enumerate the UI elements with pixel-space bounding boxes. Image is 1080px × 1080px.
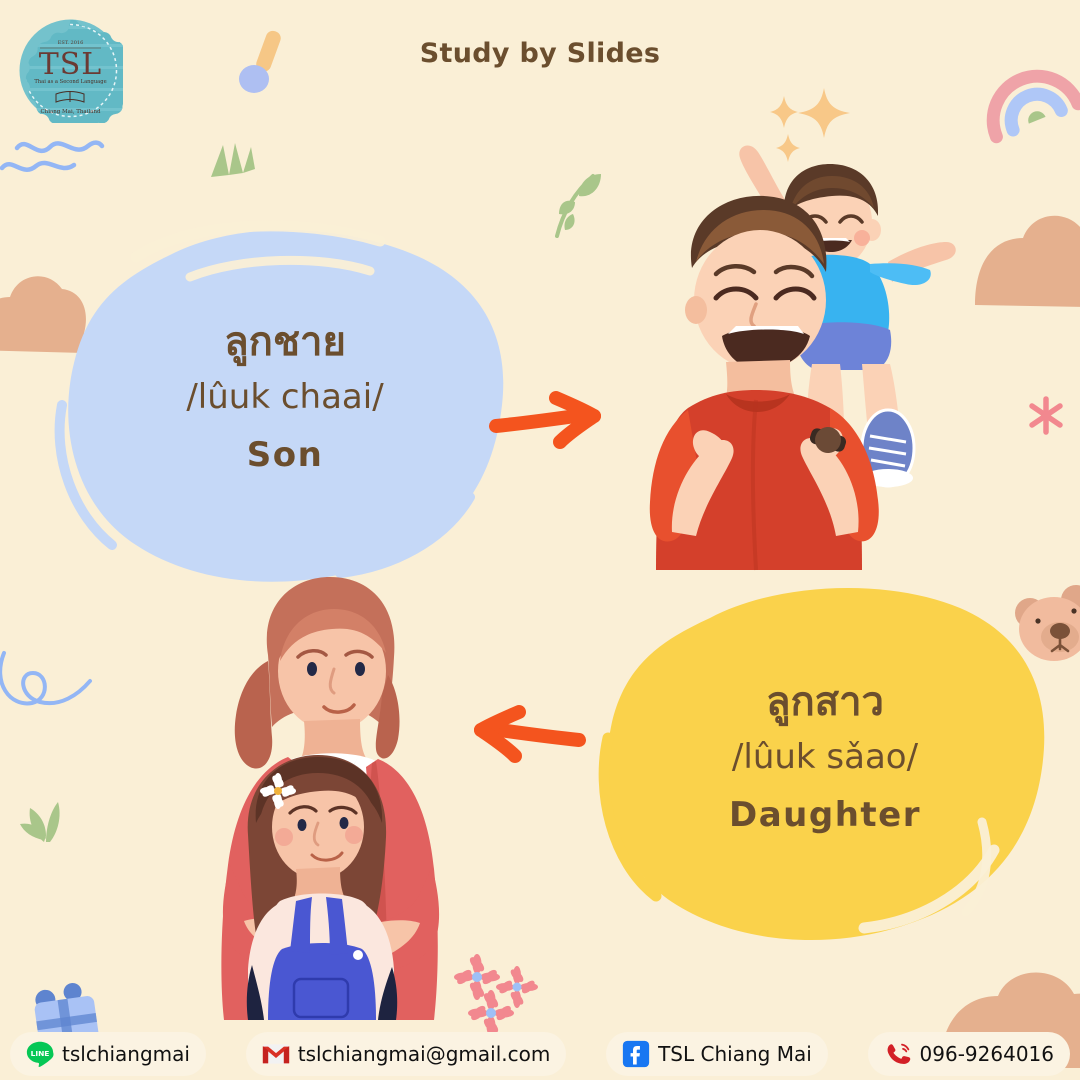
son-thai-word: ลูกชาย bbox=[224, 315, 346, 369]
squiggle-decoration-top bbox=[2, 130, 112, 180]
svg-text:LINE: LINE bbox=[31, 1049, 50, 1058]
contact-line[interactable]: LINE tslchiangmai bbox=[10, 1032, 206, 1076]
leaf-fan-decoration bbox=[205, 135, 260, 180]
contact-phone-label: 096-9264016 bbox=[920, 1042, 1054, 1066]
daughter-english-word: Daughter bbox=[729, 787, 921, 845]
asterisk-flower-decoration bbox=[1026, 394, 1066, 438]
word-card-son: ลูกชาย /lûuk chaai/ Son bbox=[60, 250, 510, 550]
contact-email-label: tslchiangmai@gmail.com bbox=[298, 1042, 551, 1066]
flower-cluster-decoration bbox=[455, 955, 575, 1030]
illustration-father-and-son bbox=[648, 150, 993, 570]
contact-facebook[interactable]: TSL Chiang Mai bbox=[606, 1032, 828, 1076]
contact-email[interactable]: tslchiangmai@gmail.com bbox=[246, 1032, 567, 1076]
squiggle-loop-decoration bbox=[0, 645, 103, 720]
logo-location: Chiang Mai, Thailand bbox=[40, 109, 101, 115]
son-romanization: /lûuk chaai/ bbox=[186, 369, 383, 427]
line-icon: LINE bbox=[26, 1040, 54, 1068]
page-title: Study by Slides bbox=[0, 38, 1080, 69]
contact-facebook-label: TSL Chiang Mai bbox=[658, 1042, 812, 1066]
phone-icon bbox=[884, 1040, 912, 1068]
plant-sprig-decoration bbox=[545, 160, 615, 240]
slide-canvas: EST. 2016 TSL Thai as a Second Language … bbox=[0, 0, 1080, 1080]
facebook-icon bbox=[622, 1040, 650, 1068]
son-english-word: Son bbox=[247, 427, 324, 485]
arrow-right-icon bbox=[490, 390, 605, 450]
contact-phone[interactable]: 096-9264016 bbox=[868, 1032, 1070, 1076]
grass-tuft-decoration bbox=[18, 790, 73, 845]
tsl-logo[interactable]: EST. 2016 TSL Thai as a Second Language … bbox=[18, 18, 123, 123]
gmail-icon bbox=[262, 1040, 290, 1068]
daughter-thai-word: ลูกสาว bbox=[766, 675, 884, 729]
footer-contact-bar: LINE tslchiangmai tslchiangmai@gmail.com… bbox=[0, 1028, 1080, 1080]
sparkle-decoration-group bbox=[766, 86, 856, 156]
arrow-left-icon bbox=[470, 708, 585, 768]
word-card-daughter: ลูกสาว /lûuk sǎao/ Daughter bbox=[600, 610, 1050, 910]
illustration-mother-and-daughter bbox=[172, 565, 462, 1020]
contact-line-label: tslchiangmai bbox=[62, 1042, 190, 1066]
logo-tagline: Thai as a Second Language bbox=[34, 79, 106, 85]
daughter-romanization: /lûuk sǎao/ bbox=[732, 729, 918, 787]
